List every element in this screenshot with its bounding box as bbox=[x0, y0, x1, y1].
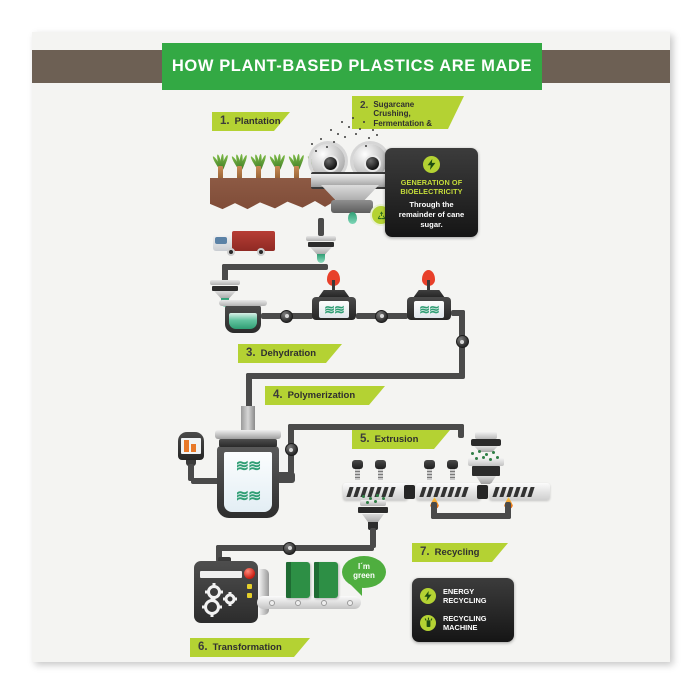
step-label-recycling: Recycling bbox=[435, 547, 480, 558]
sugarcane-plant bbox=[250, 146, 267, 182]
step-number-5: 5. bbox=[360, 433, 370, 446]
dehydration-vessel bbox=[223, 300, 263, 334]
tank-window: ≋≋ ≋≋ bbox=[224, 452, 272, 512]
step-banner-transformation: 6. Transformation bbox=[190, 638, 310, 657]
pellet-spray bbox=[468, 450, 502, 466]
speech-bubble: I´m green bbox=[342, 556, 386, 588]
pipe-valve[interactable] bbox=[280, 310, 293, 323]
heat-wave-icon: ≋≋ bbox=[419, 303, 439, 316]
pipe-valve[interactable] bbox=[456, 335, 469, 348]
step-label-plantation: Plantation bbox=[235, 116, 281, 127]
step-banner-dehydration: 3. Dehydration bbox=[238, 344, 342, 363]
pipe-segment bbox=[318, 218, 324, 236]
pipe-segment bbox=[431, 513, 511, 519]
extruder-nozzle bbox=[352, 460, 363, 480]
green-product bbox=[314, 562, 338, 598]
infographic-canvas: HOW PLANT-BASED PLASTICS ARE MADE 1. Pla… bbox=[0, 0, 700, 700]
bioelectricity-title: GENERATION OF BIOELECTRICITY bbox=[391, 178, 472, 196]
page-title: HOW PLANT-BASED PLASTICS ARE MADE bbox=[172, 57, 532, 76]
legend-item-machine: RECYCLING MACHINE bbox=[420, 614, 506, 633]
heat-wave-icon: ≋≋ bbox=[324, 303, 344, 316]
filter-funnel bbox=[304, 236, 338, 262]
bioelectricity-box: GENERATION OF BIOELECTRICITY Through the… bbox=[385, 148, 478, 237]
liquid-drop bbox=[348, 212, 357, 224]
status-led bbox=[247, 593, 252, 598]
sugarcane-plant bbox=[269, 146, 286, 182]
truck-window bbox=[215, 237, 227, 244]
legend-label-machine: RECYCLING MACHINE bbox=[443, 614, 487, 633]
step-banner-extrusion: 5. Extrusion bbox=[352, 430, 450, 449]
step-banner-crushing: 2. Sugarcane Crushing, Fermentation & Di… bbox=[352, 96, 464, 129]
legend-label-energy: ENERGY RECYCLING bbox=[443, 587, 487, 606]
control-monitor[interactable] bbox=[178, 432, 204, 466]
extruder-nozzle bbox=[375, 460, 386, 480]
truck-cargo bbox=[232, 231, 275, 251]
step-number-6: 6. bbox=[198, 641, 208, 654]
step-banner-recycling: 7. Recycling bbox=[412, 543, 508, 562]
reactor-window: ≋≋ bbox=[414, 301, 444, 318]
extruder-belt bbox=[416, 483, 481, 500]
heat-wave-icon: ≋≋ bbox=[236, 459, 261, 475]
step-banner-polymerization: 4. Polymerization bbox=[265, 386, 385, 405]
legend-item-energy: ENERGY RECYCLING bbox=[420, 587, 506, 606]
pipe-valve[interactable] bbox=[283, 542, 296, 555]
pipe-valve[interactable] bbox=[375, 310, 388, 323]
pipe-segment bbox=[188, 464, 194, 481]
step-number-2: 2. bbox=[360, 100, 368, 111]
bioelectricity-subtitle: Through the remainder of cane sugar. bbox=[391, 200, 472, 230]
pipe-valve[interactable] bbox=[285, 443, 298, 456]
tank-inlet-pipe bbox=[241, 406, 255, 430]
pellet-spray bbox=[358, 494, 392, 510]
step-label-dehydration: Dehydration bbox=[261, 348, 316, 359]
transformation-machine bbox=[194, 557, 266, 623]
pipe-segment bbox=[246, 373, 465, 379]
sugarcane-plant bbox=[212, 146, 229, 182]
extruder-belt bbox=[489, 483, 550, 500]
recycling-legend-box: ENERGY RECYCLING RECYCLING MACHINE bbox=[412, 578, 514, 642]
reactor-window: ≋≋ bbox=[319, 301, 349, 318]
step-number-7: 7. bbox=[420, 546, 430, 559]
recycling-machine-icon bbox=[420, 615, 436, 631]
step-label-extrusion: Extrusion bbox=[375, 434, 419, 445]
step-number-3: 3. bbox=[246, 347, 256, 360]
extruder-nozzle bbox=[447, 460, 458, 480]
belt-divider bbox=[404, 485, 415, 499]
transport-truck bbox=[213, 230, 275, 256]
polymerization-tank: ≋≋ ≋≋ bbox=[215, 428, 281, 520]
pipe-segment bbox=[288, 424, 464, 430]
heat-wave-icon: ≋≋ bbox=[236, 489, 261, 505]
sugarcane-plant bbox=[231, 146, 248, 182]
power-indicator bbox=[244, 568, 255, 579]
heater-reactor: ≋≋ bbox=[310, 270, 358, 320]
bolt-icon bbox=[420, 588, 436, 604]
truck-wheel bbox=[227, 248, 235, 256]
step-number-4: 4. bbox=[273, 389, 283, 402]
step-label-polymerization: Polymerization bbox=[288, 390, 356, 401]
belt-divider bbox=[477, 485, 488, 499]
truck-wheel bbox=[257, 248, 265, 256]
green-product bbox=[286, 562, 310, 598]
bolt-icon bbox=[423, 156, 440, 173]
output-conveyor bbox=[257, 596, 361, 609]
step-number-1: 1. bbox=[220, 115, 230, 128]
pipe-segment bbox=[458, 424, 464, 438]
gears-icon bbox=[201, 583, 245, 617]
heater-reactor: ≋≋ bbox=[405, 270, 453, 320]
header-banner: HOW PLANT-BASED PLASTICS ARE MADE bbox=[162, 43, 542, 90]
sugarcane-plant bbox=[288, 146, 305, 182]
speech-bubble-text: I´m green bbox=[353, 563, 375, 581]
step-label-transformation: Transformation bbox=[213, 642, 282, 653]
status-led bbox=[247, 584, 252, 589]
extruder-nozzle bbox=[424, 460, 435, 480]
